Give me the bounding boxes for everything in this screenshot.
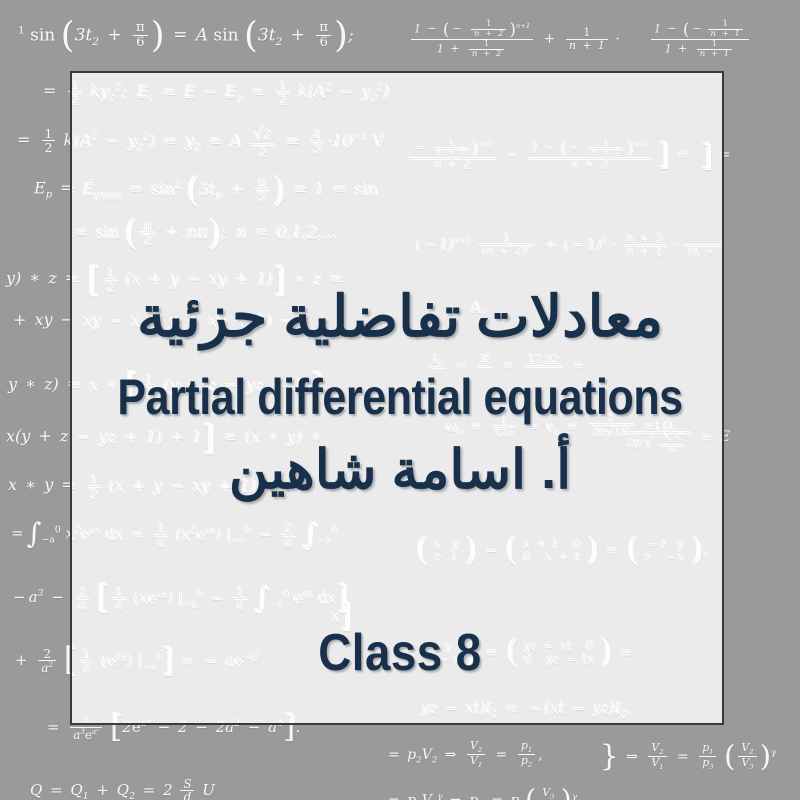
- math-formula-row: = p1V1γ ⇒ p2 = p2(V3 )γ: [385, 786, 577, 800]
- math-formula-row: − 1n + 1)n+1n + 2 − 1 − (− 1n + 2)n+1n +…: [407, 140, 693, 171]
- math-formula-row: (x yz t) − (x + t 00 x + t) = (−t yz −x)…: [417, 536, 709, 568]
- math-formula-row: ω0 = 1Cω ⇒ v0 = 12π√LC = 0.: [447, 414, 678, 442]
- math-formula-row: 1 − (− 1n + 2)n+11 + 1n + 2 + 1n + 1 ·: [408, 20, 620, 59]
- math-formula-row: + 2a2 [1a (eax) |−a0] = − ae−a2: [70, 647, 261, 679]
- math-formula-row: ] =: [702, 142, 724, 171]
- math-formula-row: IR = R = 17,32 =: [428, 354, 588, 381]
- math-formula-row: =∫−a0 x2eax dx = 1a (x2eax) |−a0 − 2a ∫−…: [70, 522, 338, 551]
- math-formula-row: x]: [332, 602, 353, 634]
- math-formula-row: −a3 − 2a [1a (xeax) |−a0 − 1a ∫−a0 eax d…: [70, 584, 349, 616]
- math-formula-row: = 12 ky22; Ec = E − Ep = 12 k(A2 − y22): [70, 80, 391, 107]
- math-formula-row: y ∗ z) = x ∗ [12 (y + z − yz + 1)]: [70, 370, 324, 404]
- math-formula-row: y−x) = (yz − xt 00 yz − tx) =: [432, 638, 636, 670]
- poster-canvas: 1 sin (3t2 + π6) = A sin (3t2 + π6);= 12…: [0, 0, 800, 800]
- math-formula-row: yz − xt)I2 = −(xt − yz)I2,: [422, 702, 633, 720]
- math-formula-row: = p2V2 ⇒ V2V1 = p1p2,: [385, 740, 543, 770]
- panel-math-wallpaper: 1 sin (3t2 + π6) = A sin (3t2 + π6);= 12…: [70, 71, 724, 725]
- math-formula-row: A,: [472, 302, 487, 316]
- math-formula-row: x(y + z − yz + 1) + 1] = (x ∗ y) ∗: [70, 422, 325, 456]
- math-formula-row: Ep = Epmax ⇒ sin2 (3tp + π3) = 1 ⇒ sin: [70, 174, 379, 208]
- math-formula-row: (−1)n+1 1(n + 2)n + (−1)n · n + 3n + 1 ·…: [417, 234, 724, 259]
- math-formula-row: y) ∗ z = [12 (x + y − xy + 1)] ∗ z =: [70, 264, 347, 298]
- math-formula-row: 1 sin (3t2 + π6) = A sin (3t2 + π6);: [18, 18, 354, 54]
- math-formula-row: Q = Q1 + Q2 = 2 Sd U: [30, 778, 215, 800]
- math-formula-row: + xy − xy − x − y + xy + 1) −: [70, 314, 298, 330]
- math-formula-row: = 1a3ea2 [2ea2 − 2 − 2a2 − a4].: [70, 714, 302, 725]
- math-formula-row: 12π √ XL Cω = E: [622, 422, 724, 456]
- content-panel: 1 sin (3t2 + π6) = A sin (3t2 + π6);= 12…: [70, 71, 724, 725]
- math-formula-row: = sin (π2 + nπ); n = 0,1,2,...: [72, 217, 339, 251]
- math-formula-row: } ⇒ V2V1 = p1p3 (V2V3)γ: [600, 742, 776, 772]
- math-formula-row: = 12 k(A2 − y22) ⇒ y2 = A √22 = 43·10−1 …: [70, 127, 385, 159]
- math-formula-row: x ∗ y = 12 (x + y − xy + 1): [70, 474, 257, 501]
- math-formula-row: 1 − (−1n + 11 + 1n + 1: [648, 20, 752, 59]
